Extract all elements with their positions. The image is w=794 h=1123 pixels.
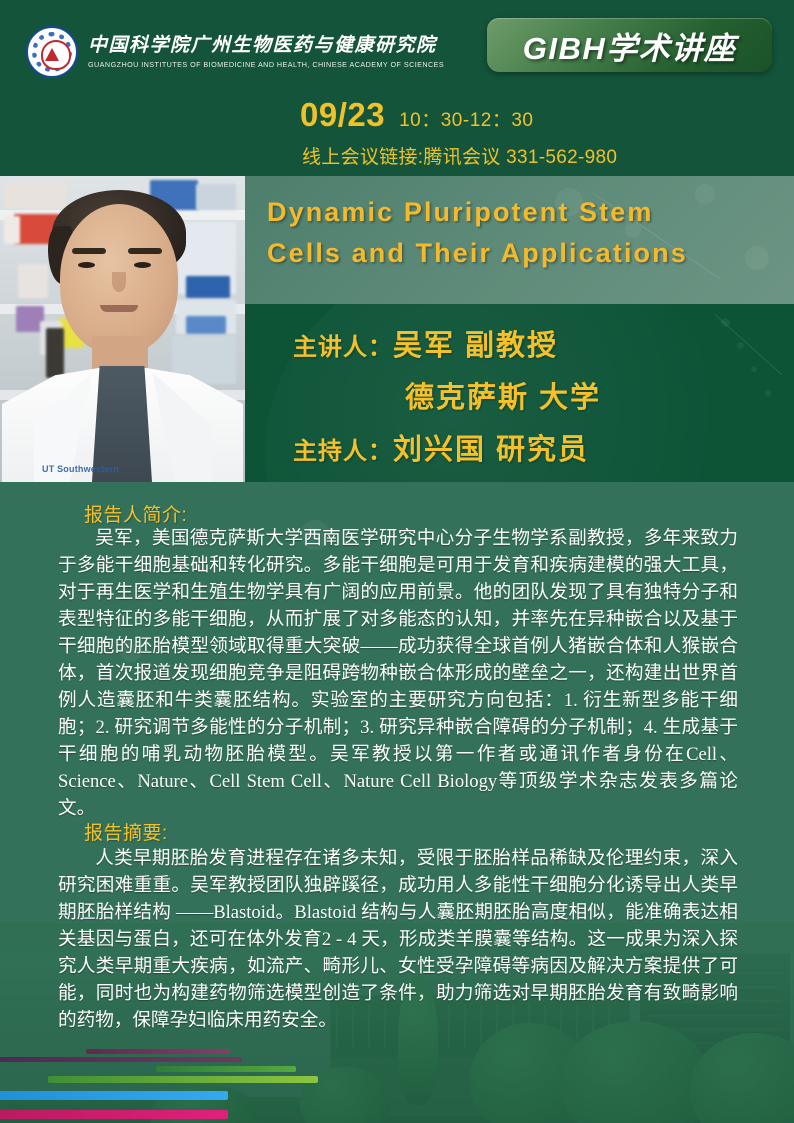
- speaker-info-panel: 主讲人： 吴军 副教授 德克萨斯 大学 主持人： 刘兴国 研究员: [245, 304, 794, 482]
- event-date: 09/23: [300, 96, 385, 134]
- gibh-badge-label: GIBH学术讲座: [523, 23, 737, 68]
- color-bar-purple: [0, 1057, 242, 1062]
- online-meeting-info: 线上会议链接:腾讯会议 331-562-980: [302, 142, 617, 169]
- speaker-row: 主讲人： 吴军 副教授: [293, 322, 558, 364]
- talk-title-line-2: Cells and Their Applications: [267, 233, 786, 274]
- talk-title-line-1: Dynamic Pluripotent Stem: [267, 192, 786, 233]
- bio-heading: 报告人简介:: [84, 500, 187, 527]
- talk-title-panel: Dynamic Pluripotent Stem Cells and Their…: [245, 176, 794, 304]
- seminar-poster: 中国科学院广州生物医药与健康研究院 GUANGZHOU INSTITUTES O…: [0, 0, 794, 1123]
- color-bar-magenta: [0, 1110, 228, 1119]
- institute-logo-block: 中国科学院广州生物医药与健康研究院 GUANGZHOU INSTITUTES O…: [26, 26, 444, 78]
- color-bar-blue: [0, 1091, 228, 1100]
- schedule-strip: 09/23 10：30-12：30 线上会议链接:腾讯会议 331-562-98…: [0, 94, 794, 176]
- event-time: 10：30-12：30: [399, 105, 533, 132]
- color-bar-plum: [86, 1049, 230, 1054]
- host-row: 主持人： 刘兴国 研究员: [293, 426, 589, 468]
- color-bar-green: [48, 1076, 318, 1083]
- decorative-color-bars: [0, 1039, 430, 1123]
- gibh-seal-icon: [26, 26, 78, 78]
- host-name: 刘兴国 研究员: [393, 426, 589, 468]
- gibh-lecture-badge: GIBH学术讲座: [487, 18, 772, 72]
- color-bar-green-small: [156, 1066, 296, 1072]
- abstract-heading: 报告摘要:: [84, 818, 168, 845]
- institute-name-cn: 中国科学院广州生物医药与健康研究院: [88, 35, 444, 57]
- lab-coat-logo-text: UT Southwestern: [42, 464, 119, 474]
- poster-body: 报告人简介: 吴军，美国德克萨斯大学西南医学研究中心分子生物学系副教授，多年来致…: [0, 482, 794, 1042]
- abstract-paragraph: 人类早期胚胎发育进程存在诸多未知，受限于胚胎样品稀缺及伦理约束，深入研究困难重重…: [58, 846, 738, 1035]
- speaker-photo: UT Southwestern: [0, 176, 245, 482]
- speaker-affiliation: 德克萨斯 大学: [405, 374, 601, 416]
- institute-name-en: GUANGZHOU INSTITUTES OF BIOMEDICINE AND …: [88, 60, 444, 69]
- host-label: 主持人：: [293, 431, 393, 466]
- speaker-name: 吴军 副教授: [393, 322, 558, 364]
- poster-header: 中国科学院广州生物医药与健康研究院 GUANGZHOU INSTITUTES O…: [0, 0, 794, 94]
- bio-paragraph: 吴军，美国德克萨斯大学西南医学研究中心分子生物学系副教授，多年来致力于多能干细胞…: [58, 526, 738, 822]
- date-time-row: 09/23 10：30-12：30: [300, 96, 533, 134]
- speaker-label: 主讲人：: [293, 327, 393, 362]
